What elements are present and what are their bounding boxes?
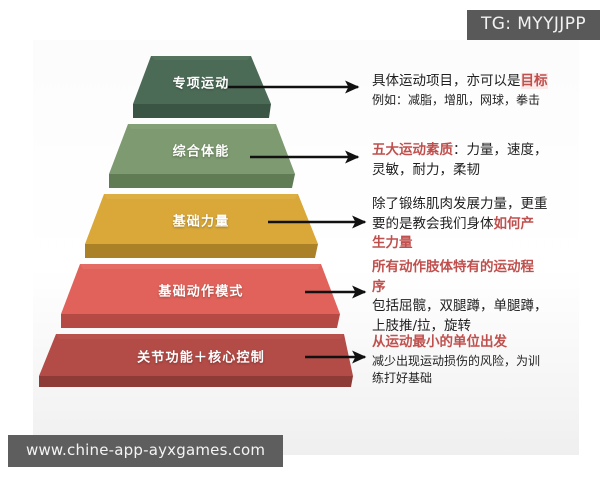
annotation-3-highlight-b: 生力量 (372, 234, 594, 254)
telegram-badge: TG: MYYJJPP (467, 10, 600, 40)
annotation-general-fitness: 五大运动素质：力量，速度， 灵敏，耐力，柔韧 (372, 141, 594, 180)
annotation-4-lead-line-1: 所有动作肢体特有的运动程 (372, 258, 594, 278)
infographic-screenshot: 专项运动 综合体能 基础力量 (0, 0, 600, 480)
annotation-5-lead: 从运动最小的单位出发 (372, 333, 594, 353)
annotation-1-highlight: 目标 (521, 73, 548, 89)
annotation-2-line-1-rest: ：力量，速度， (453, 142, 548, 158)
annotation-3-line-1: 除了锻练肌肉发展力量，更重 (372, 195, 594, 215)
annotation-4-line-1: 包括屈髋，双腿蹲，单腿蹲， (372, 297, 594, 317)
annotation-5-line-2: 练打好基础 (372, 370, 594, 387)
annotation-1-line-1: 具体运动项目，亦可以是目标 (372, 72, 594, 92)
annotation-5-line-1: 减少出现运动损伤的风险，为训 (372, 353, 594, 370)
site-watermark: www.chine-app-ayxgames.com (8, 435, 283, 467)
annotation-2-line-1: 五大运动素质：力量，速度， (372, 141, 594, 161)
annotation-joint-core: 从运动最小的单位出发 减少出现运动损伤的风险，为训 练打好基础 (372, 333, 594, 387)
annotation-1-line-2: 例如：减脂，增肌，网球，拳击 (372, 92, 594, 109)
annotation-2-line-2: 灵敏，耐力，柔韧 (372, 161, 594, 181)
annotation-3-line-2: 要的是教会我们身体如何产 (372, 215, 594, 235)
annotation-3-highlight-a: 如何产 (494, 216, 535, 232)
annotation-3-line-2-text: 要的是教会我们身体 (372, 216, 494, 232)
annotation-movement-patterns: 所有动作肢体特有的运动程 序 包括屈髋，双腿蹲，单腿蹲， 上肢推/拉，旋转 (372, 258, 594, 336)
annotation-specific-sport: 具体运动项目，亦可以是目标 例如：减脂，增肌，网球，拳击 (372, 72, 594, 109)
pyramid-tier-5: 关节功能＋核心控制 (33, 46, 353, 391)
annotation-4-lead-line-2: 序 (372, 278, 594, 298)
annotation-foundational-strength: 除了锻练肌肉发展力量，更重 要的是教会我们身体如何产 生力量 (372, 195, 594, 254)
training-pyramid: 专项运动 综合体能 基础力量 (33, 46, 353, 391)
annotation-2-lead: 五大运动素质 (372, 142, 453, 158)
annotation-1-line-1-text: 具体运动项目，亦可以是 (372, 73, 521, 89)
